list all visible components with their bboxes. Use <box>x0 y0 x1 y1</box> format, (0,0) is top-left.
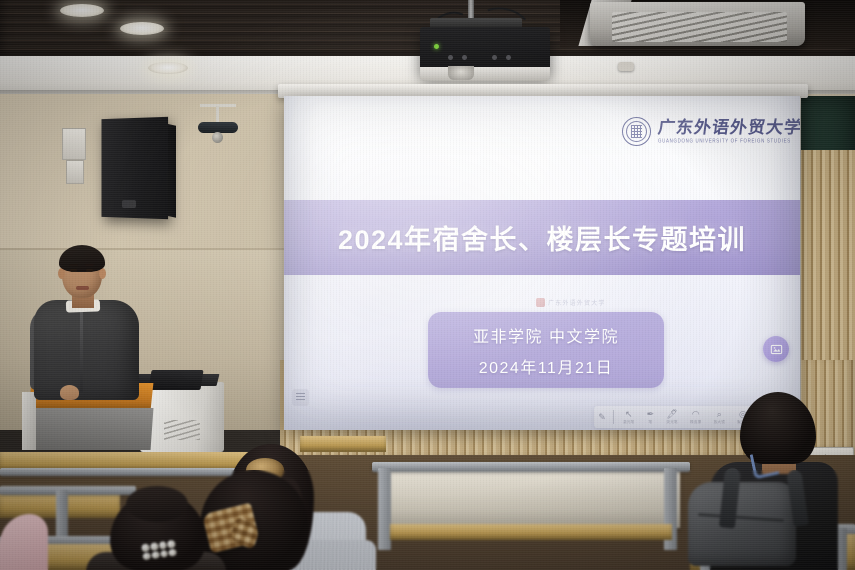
student-hair-bun <box>126 486 188 522</box>
eraser-icon: ◠ <box>692 410 700 419</box>
presenter-eye <box>70 269 77 272</box>
pearl-bead <box>158 541 167 550</box>
pearl-bead <box>142 552 151 561</box>
projector-button <box>448 55 453 60</box>
toolbar-separator <box>613 410 614 424</box>
magnifier-icon: ⌕ <box>717 410 722 419</box>
lanyard-icon <box>750 450 780 480</box>
toolbar-label-0: 激光笔 <box>623 420 634 424</box>
pen-pointer-icon: ✎ <box>598 413 606 422</box>
watermark-text: 广东外语外贸大学 <box>548 298 606 307</box>
pearl-bead <box>141 543 150 552</box>
slide-thumbnail-icon[interactable] <box>292 389 309 406</box>
projection-screen: 广东外语外贸大学 GUANGDONG UNIVERSITY OF FOREIGN… <box>284 96 800 430</box>
pen-icon: ✒ <box>647 410 655 419</box>
presenter-eyebrow <box>69 264 78 266</box>
presentation-slide: 广东外语外贸大学 GUANGDONG UNIVERSITY OF FOREIGN… <box>284 96 800 430</box>
university-logo: 广东外语外贸大学 GUANGDONG UNIVERSITY OF FOREIGN… <box>622 114 792 148</box>
pearl-bead <box>167 540 176 549</box>
slide-watermark: 广东外语外贸大学 <box>536 296 616 309</box>
bench-row-mid <box>300 436 386 452</box>
downlight-icon <box>148 62 188 74</box>
downlight-icon <box>120 22 164 35</box>
gray-backpack <box>688 482 796 566</box>
presenter-jacket <box>34 300 139 400</box>
toolbar-item-laser[interactable]: ✎ <box>594 413 610 422</box>
thumbnail-glyph <box>296 393 305 402</box>
projector-lower-body <box>420 67 550 81</box>
desk-front-rail <box>372 462 690 472</box>
projector-lens-icon <box>448 66 474 80</box>
lectern-monitor <box>148 370 203 390</box>
projector-power-led <box>434 44 439 49</box>
bench-rail <box>0 486 136 495</box>
lectern-vent-grille <box>164 420 200 440</box>
camera-lens-icon <box>212 132 223 143</box>
slide-title-band: 2024年宿舍长、楼层长专题培训 <box>284 200 800 275</box>
presenter-jacket-placket <box>80 308 83 392</box>
slide-subtitle-departments: 亚非学院 中文学院 <box>473 323 619 347</box>
wall-socket <box>62 128 86 160</box>
presenter-view-icon[interactable] <box>763 336 789 362</box>
toolbar-item-1[interactable]: ✒ 笔 <box>641 410 661 424</box>
speaker-badge <box>122 200 136 208</box>
desk-lower-edge <box>390 524 672 540</box>
slide-subtitle-date: 2024年11月21日 <box>479 354 614 378</box>
ac-vent-louvers <box>612 12 787 42</box>
pen-pointer-icon: ↖ <box>625 410 633 419</box>
pearl-bead <box>168 548 177 557</box>
room-shell: · · ? <box>0 0 855 570</box>
desk-surface <box>390 470 680 528</box>
watermark-badge-icon <box>536 298 545 307</box>
toolbar-item-0[interactable]: ↖ 激光笔 <box>617 410 641 424</box>
university-name-block: 广东外语外贸大学 GUANGDONG UNIVERSITY OF FOREIGN… <box>658 118 800 144</box>
toolbar-label-2: 荧光笔 <box>666 420 677 424</box>
lectern-base <box>27 408 154 450</box>
lecture-hall-screenshot: · · ? <box>0 0 855 570</box>
university-name-cn: 广东外语外贸大学 <box>657 118 800 137</box>
presenter-hand <box>60 385 79 400</box>
slide-subtitle-box: 亚非学院 中文学院 2024年11月21日 <box>428 312 664 388</box>
seal-inner-mark <box>631 125 642 138</box>
downlight-icon <box>60 4 104 17</box>
presenter-mouth <box>76 286 89 290</box>
lectern-left-panel <box>22 392 36 450</box>
pearl-bead <box>151 551 160 560</box>
wall-socket-secondary <box>66 160 84 184</box>
toolbar-item-4[interactable]: ⌕ 放大镜 <box>708 410 732 424</box>
highlighter-icon: 🖊 <box>666 410 677 419</box>
university-name-en: GUANGDONG UNIVERSITY OF FOREIGN STUDIES <box>658 136 800 144</box>
smoke-detector-icon <box>618 62 634 71</box>
slide-title: 2024年宿舍长、楼层长专题培训 <box>338 218 746 257</box>
toolbar-item-3[interactable]: ◠ 橡皮擦 <box>684 410 708 424</box>
projector-button <box>492 55 497 60</box>
toolbar-label-1: 笔 <box>649 420 653 424</box>
toolbar-item-2[interactable]: 🖊 荧光笔 <box>660 410 684 424</box>
pearl-bead <box>160 549 169 558</box>
presenter-eye <box>86 269 93 272</box>
toolbar-label-4: 放大镜 <box>714 420 725 424</box>
presenter-eyebrow <box>85 264 94 266</box>
projector-button <box>462 55 467 60</box>
university-seal-icon <box>622 117 651 146</box>
toolbar-label-3: 橡皮擦 <box>690 420 701 424</box>
projector-button <box>506 55 511 60</box>
pearl-bead <box>150 542 159 551</box>
